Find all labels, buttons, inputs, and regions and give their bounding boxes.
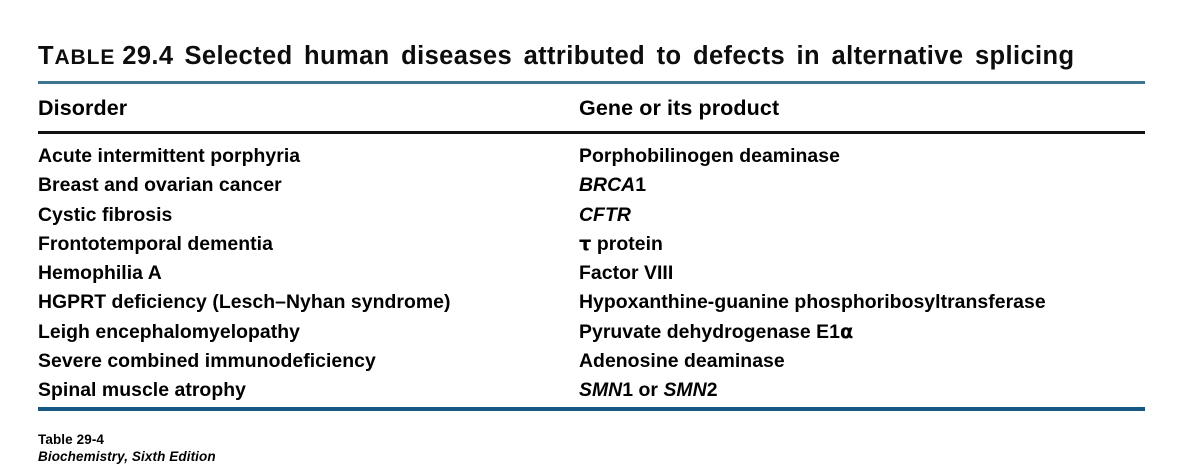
table-title: TABLE29.4Selected human diseases attribu… <box>38 42 1148 71</box>
gene-text-part: SMN <box>579 379 622 401</box>
gene-text-part: 2 <box>707 379 718 401</box>
table-label-rest: ABLE <box>54 46 115 69</box>
figure-caption: Table 29-4 Biochemistry, Sixth Edition <box>38 431 538 465</box>
cell-gene: Adenosine deaminase <box>579 349 785 373</box>
table-row: Severe combined immunodeficiencyAdenosin… <box>38 349 1148 378</box>
cell-gene: Porphobilinogen deaminase <box>579 144 840 168</box>
rule-top <box>38 81 1145 84</box>
gene-text-part: Adenosine deaminase <box>579 350 785 372</box>
table-number: 29.4 <box>122 42 173 70</box>
table-body: Acute intermittent porphyriaPorphobilino… <box>38 144 1148 408</box>
cell-gene: Pyruvate dehydrogenase E1α <box>579 320 853 344</box>
column-header-gene: Gene or its product <box>579 96 779 121</box>
rule-bottom <box>38 407 1145 411</box>
cell-disorder: Severe combined immunodeficiency <box>38 349 376 373</box>
column-header-disorder: Disorder <box>38 96 127 121</box>
table-row: HGPRT deficiency (Lesch–Nyhan syndrome)H… <box>38 290 1148 319</box>
gene-text-part: 1 <box>635 174 646 196</box>
cell-gene: BRCA1 <box>579 173 646 197</box>
cell-disorder: Spinal muscle atrophy <box>38 378 246 402</box>
table-row: Frontotemporal dementiaτ protein <box>38 232 1148 261</box>
table-label: TABLE <box>38 46 115 69</box>
cell-disorder: HGPRT deficiency (Lesch–Nyhan syndrome) <box>38 290 451 314</box>
column-headers: Disorder Gene or its product <box>38 96 1148 124</box>
gene-text-part: Pyruvate dehydrogenase E1 <box>579 321 840 343</box>
table-row: Breast and ovarian cancerBRCA1 <box>38 173 1148 202</box>
gene-text-part: CFTR <box>579 204 631 226</box>
caption-table-number: Table 29-4 <box>38 431 538 448</box>
gene-text-part: τ <box>579 232 591 255</box>
table-label-initial: T <box>38 42 54 70</box>
cell-gene: Factor VIII <box>579 261 673 285</box>
gene-text-part: SMN <box>663 379 706 401</box>
table-row: Cystic fibrosisCFTR <box>38 203 1148 232</box>
rule-header <box>38 131 1145 134</box>
table-figure: TABLE29.4Selected human diseases attribu… <box>0 0 1184 470</box>
cell-disorder: Frontotemporal dementia <box>38 232 273 256</box>
gene-text-part: BRCA <box>579 174 635 196</box>
gene-text-part: Hypoxanthine-guanine phosphoribosyltrans… <box>579 291 1046 313</box>
cell-disorder: Breast and ovarian cancer <box>38 173 282 197</box>
table-row: Acute intermittent porphyriaPorphobilino… <box>38 144 1148 173</box>
cell-gene: Hypoxanthine-guanine phosphoribosyltrans… <box>579 290 1046 314</box>
gene-text-part: α <box>840 320 853 343</box>
table-title-text: Selected human diseases attributed to de… <box>184 42 1074 70</box>
table-row: Spinal muscle atrophySMN1 or SMN2 <box>38 378 1148 407</box>
cell-disorder: Hemophilia A <box>38 261 162 285</box>
table-row: Hemophilia AFactor VIII <box>38 261 1148 290</box>
cell-disorder: Cystic fibrosis <box>38 203 172 227</box>
gene-text-part: 1 or <box>622 379 663 401</box>
gene-text-part: Factor VIII <box>579 262 673 284</box>
cell-disorder: Leigh encephalomyelopathy <box>38 320 300 344</box>
cell-gene: SMN1 or SMN2 <box>579 378 718 402</box>
cell-disorder: Acute intermittent porphyria <box>38 144 300 168</box>
caption-source: Biochemistry, Sixth Edition <box>38 448 538 465</box>
gene-text-part: Porphobilinogen deaminase <box>579 145 840 167</box>
gene-text-part: protein <box>591 233 663 255</box>
table-row: Leigh encephalomyelopathyPyruvate dehydr… <box>38 320 1148 349</box>
cell-gene: τ protein <box>579 232 663 256</box>
cell-gene: CFTR <box>579 203 631 227</box>
